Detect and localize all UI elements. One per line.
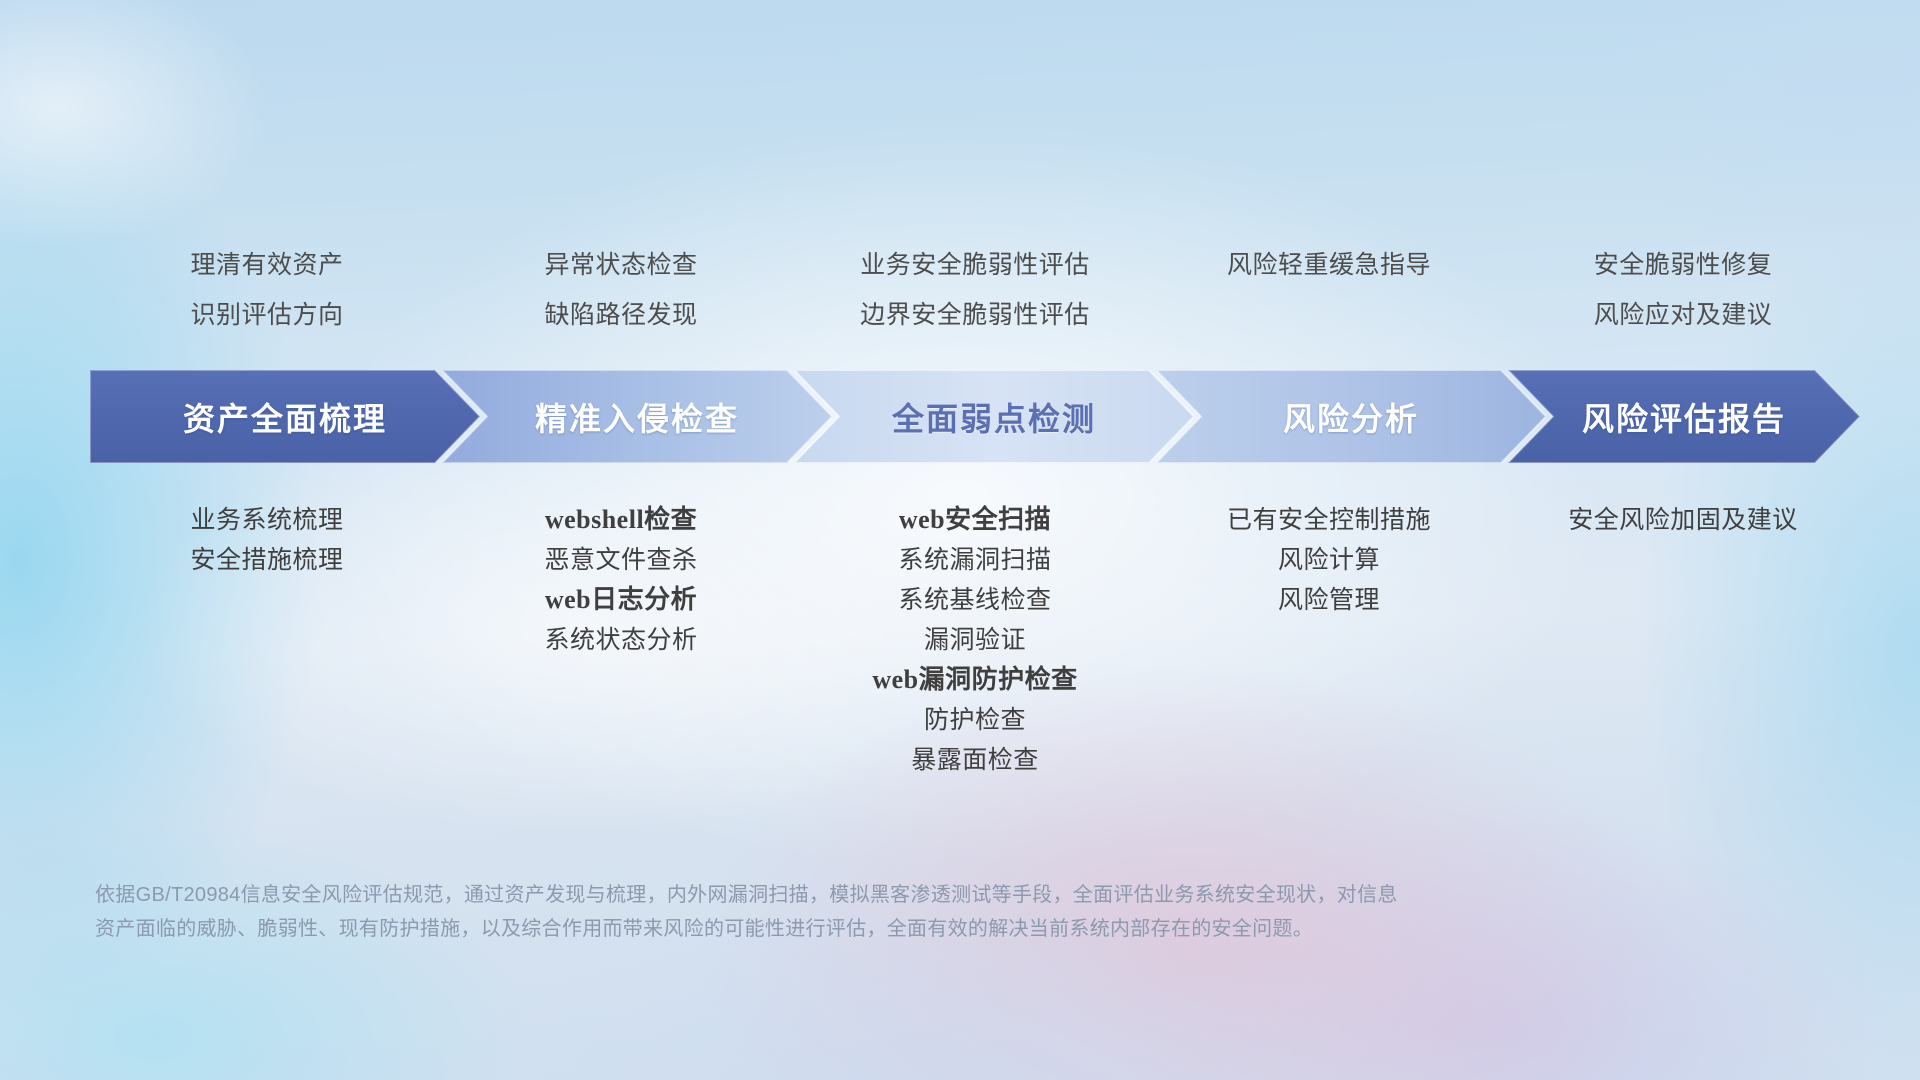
stage-arrow-weakness-detection[interactable]: 全面弱点检测 xyxy=(794,370,1194,463)
top-item: 理清有效资产 xyxy=(90,240,444,290)
detail-item: 已有安全控制措施 xyxy=(1152,500,1506,540)
bottom-cell-assessment-report: 安全风险加固及建议 xyxy=(1506,500,1860,780)
detail-item: web安全扫描 xyxy=(798,500,1152,540)
detail-item: 恶意文件查杀 xyxy=(444,540,798,580)
stage-arrow-label: 风险分析 xyxy=(1283,394,1419,440)
detail-item: webshell检查 xyxy=(444,500,798,540)
detail-item: 暴露面检查 xyxy=(798,740,1152,780)
top-descriptor-row: 理清有效资产 识别评估方向 异常状态检查 缺陷路径发现 业务安全脆弱性评估 边界… xyxy=(90,240,1860,340)
detail-item: 漏洞验证 xyxy=(798,620,1152,660)
detail-item: 系统漏洞扫描 xyxy=(798,540,1152,580)
top-item: 风险应对及建议 xyxy=(1506,290,1860,340)
stage-arrow-intrusion-check[interactable]: 精准入侵检查 xyxy=(442,370,832,463)
stage-arrow-label: 精准入侵检查 xyxy=(535,394,739,440)
detail-item: 系统状态分析 xyxy=(444,620,798,660)
stage-arrow-assessment-report[interactable]: 风险评估报告 xyxy=(1508,370,1860,463)
detail-item: 安全措施梳理 xyxy=(90,540,444,580)
stage-arrow-label: 风险评估报告 xyxy=(1582,394,1786,440)
stage-arrow-label: 全面弱点检测 xyxy=(892,394,1096,440)
footer-line-2: 资产面临的威胁、脆弱性、现有防护措施，以及综合作用而带来风险的可能性进行评估，全… xyxy=(95,912,1625,946)
top-item: 边界安全脆弱性评估 xyxy=(798,290,1152,340)
top-cell-asset-inventory: 理清有效资产 识别评估方向 xyxy=(90,240,444,340)
footer-line-1: 依据GB/T20984信息安全风险评估规范，通过资产发现与梳理，内外网漏洞扫描，… xyxy=(95,878,1625,912)
bottom-detail-row: 业务系统梳理 安全措施梳理 webshell检查 恶意文件查杀 web日志分析 … xyxy=(90,500,1860,780)
bottom-cell-asset-inventory: 业务系统梳理 安全措施梳理 xyxy=(90,500,444,780)
detail-item: web漏洞防护检查 xyxy=(798,660,1152,700)
top-item: 异常状态检查 xyxy=(444,240,798,290)
top-item: 安全脆弱性修复 xyxy=(1506,240,1860,290)
top-item: 业务安全脆弱性评估 xyxy=(798,240,1152,290)
detail-item: 安全风险加固及建议 xyxy=(1506,500,1860,540)
top-cell-risk-analysis: 风险轻重缓急指导 xyxy=(1152,240,1506,340)
bottom-cell-intrusion-check: webshell检查 恶意文件查杀 web日志分析 系统状态分析 xyxy=(444,500,798,780)
stage-arrow-banner: 资产全面梳理 精准入侵检查 xyxy=(90,370,1860,463)
detail-item: 风险管理 xyxy=(1152,580,1506,620)
detail-item: 系统基线检查 xyxy=(798,580,1152,620)
footer-description: 依据GB/T20984信息安全风险评估规范，通过资产发现与梳理，内外网漏洞扫描，… xyxy=(95,878,1625,946)
stage-arrow-risk-analysis[interactable]: 风险分析 xyxy=(1156,370,1546,463)
bottom-cell-weakness-detection: web安全扫描 系统漏洞扫描 系统基线检查 漏洞验证 web漏洞防护检查 防护检… xyxy=(798,500,1152,780)
top-item: 识别评估方向 xyxy=(90,290,444,340)
top-item: 缺陷路径发现 xyxy=(444,290,798,340)
top-cell-assessment-report: 安全脆弱性修复 风险应对及建议 xyxy=(1506,240,1860,340)
top-cell-intrusion-check: 异常状态检查 缺陷路径发现 xyxy=(444,240,798,340)
detail-item: 业务系统梳理 xyxy=(90,500,444,540)
top-item: 风险轻重缓急指导 xyxy=(1152,240,1506,290)
bottom-cell-risk-analysis: 已有安全控制措施 风险计算 风险管理 xyxy=(1152,500,1506,780)
process-diagram: 理清有效资产 识别评估方向 异常状态检查 缺陷路径发现 业务安全脆弱性评估 边界… xyxy=(0,0,1920,1080)
detail-item: 风险计算 xyxy=(1152,540,1506,580)
detail-item: web日志分析 xyxy=(444,580,798,620)
stage-arrow-asset-inventory[interactable]: 资产全面梳理 xyxy=(90,370,480,463)
stage-arrow-label: 资产全面梳理 xyxy=(183,394,387,440)
detail-item: 防护检查 xyxy=(798,700,1152,740)
top-cell-weakness-detection: 业务安全脆弱性评估 边界安全脆弱性评估 xyxy=(798,240,1152,340)
